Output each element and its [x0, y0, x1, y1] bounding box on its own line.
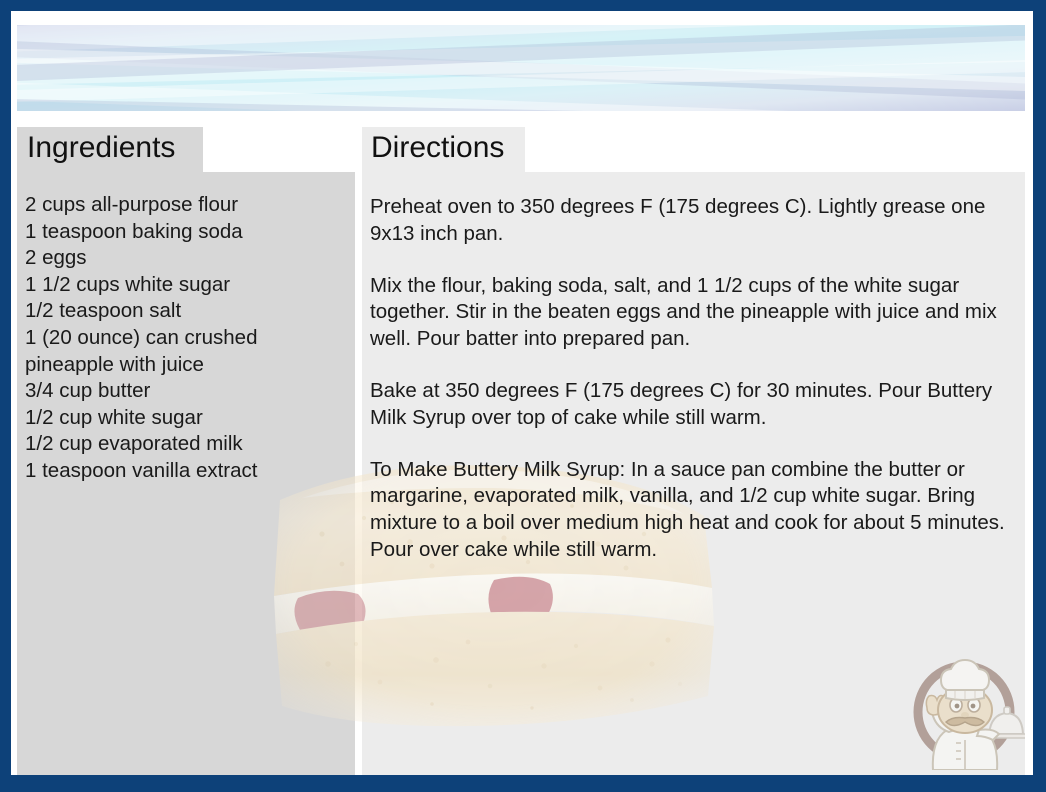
list-item: 3/4 cup butter: [25, 378, 345, 405]
ingredients-list: 2 cups all-purpose flour 1 teaspoon baki…: [25, 192, 345, 485]
recipe-card: Pineapple Cake II: [0, 0, 1046, 792]
chef-mascot-logo: [903, 648, 1025, 770]
border-top: [0, 0, 1046, 11]
list-item: 1/2 cup evaporated milk: [25, 431, 345, 458]
list-item: pineapple with juice: [25, 352, 345, 379]
border-left: [0, 0, 11, 792]
directions-list: Preheat oven to 350 degrees F (175 degre…: [370, 194, 1018, 564]
header-banner: [17, 25, 1025, 111]
direction-step: To Make Buttery Milk Syrup: In a sauce p…: [370, 457, 1018, 564]
list-item: 1 1/2 cups white sugar: [25, 272, 345, 299]
direction-step: Bake at 350 degrees F (175 degrees C) fo…: [370, 378, 1018, 432]
direction-step: Mix the flour, baking soda, salt, and 1 …: [370, 273, 1018, 353]
list-item: 2 cups all-purpose flour: [25, 192, 345, 219]
list-item: 1 (20 ounce) can crushed: [25, 325, 345, 352]
ingredients-heading: Ingredients: [27, 131, 175, 165]
list-item: 1/2 cup white sugar: [25, 405, 345, 432]
border-right: [1033, 0, 1046, 792]
list-item: 1 teaspoon vanilla extract: [25, 458, 345, 485]
list-item: 2 eggs: [25, 245, 345, 272]
directions-heading: Directions: [371, 131, 504, 165]
border-bottom: [0, 775, 1046, 792]
list-item: 1 teaspoon baking soda: [25, 219, 345, 246]
direction-step: Preheat oven to 350 degrees F (175 degre…: [370, 194, 1018, 248]
list-item: 1/2 teaspoon salt: [25, 298, 345, 325]
